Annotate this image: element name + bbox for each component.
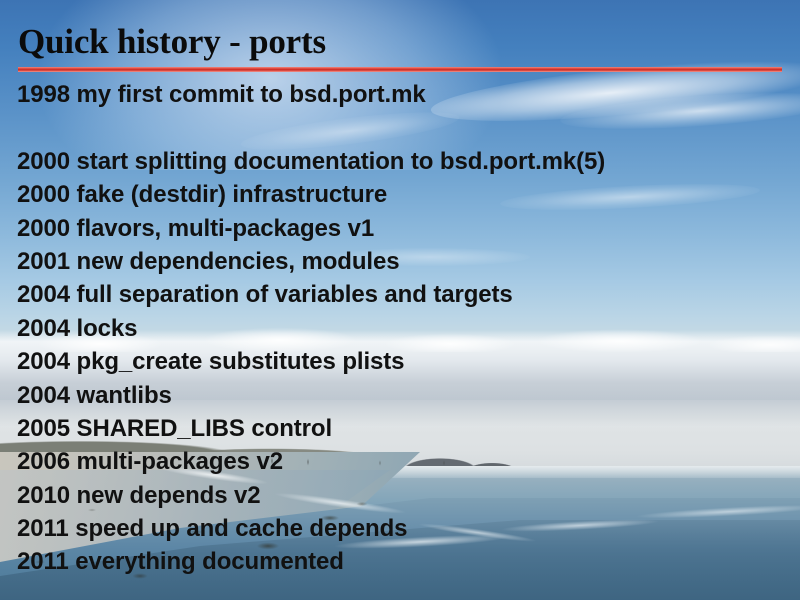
bullet-item-5: 2001 new dependencies, modules bbox=[17, 245, 787, 278]
bullet-item-8: 2004 pkg_create substitutes plists bbox=[17, 345, 787, 378]
bullet-item-6: 2004 full separation of variables and ta… bbox=[17, 278, 787, 311]
title-underline-rule bbox=[18, 67, 782, 72]
bullet-item-0: 1998 my first commit to bsd.port.mk bbox=[17, 78, 787, 111]
bullet-item-3: 2000 fake (destdir) infrastructure bbox=[17, 178, 787, 211]
bullet-item-14: 2011 everything documented bbox=[17, 545, 787, 578]
bullet-item-13: 2011 speed up and cache depends bbox=[17, 512, 787, 545]
bullet-item-9: 2004 wantlibs bbox=[17, 379, 787, 412]
bullet-item-spacer bbox=[17, 111, 787, 144]
presentation-slide: Quick history - ports 1998 my first comm… bbox=[0, 0, 800, 600]
bullet-item-7: 2004 locks bbox=[17, 312, 787, 345]
bullet-item-11: 2006 multi-packages v2 bbox=[17, 445, 787, 478]
bullet-item-4: 2000 flavors, multi-packages v1 bbox=[17, 212, 787, 245]
slide-title: Quick history - ports bbox=[18, 22, 326, 62]
slide-content: Quick history - ports 1998 my first comm… bbox=[0, 0, 800, 600]
bullet-item-2: 2000 start splitting documentation to bs… bbox=[17, 145, 787, 178]
bullet-list: 1998 my first commit to bsd.port.mk 2000… bbox=[17, 78, 787, 579]
bullet-item-10: 2005 SHARED_LIBS control bbox=[17, 412, 787, 445]
bullet-item-12: 2010 new depends v2 bbox=[17, 479, 787, 512]
